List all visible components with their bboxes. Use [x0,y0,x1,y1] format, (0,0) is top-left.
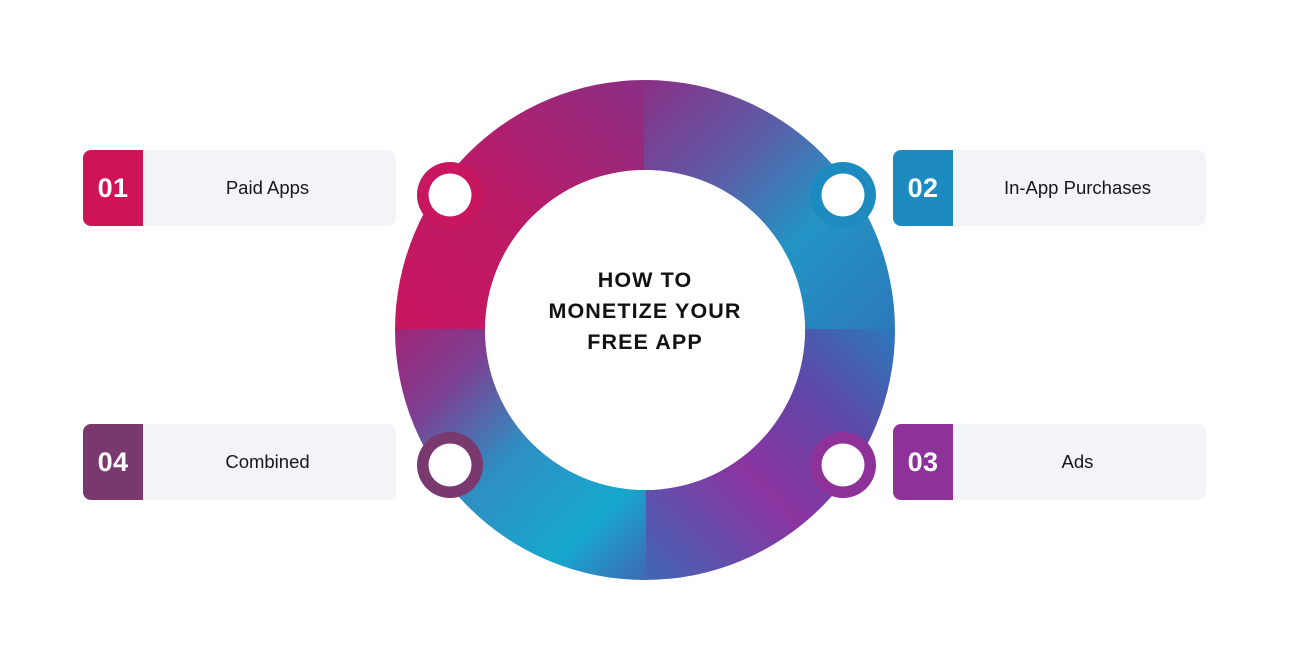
node-bottom-right [810,432,876,498]
cycle-diagram: HOW TO MONETIZE YOUR FREE APP [395,80,895,580]
step-number-badge-02: 02 [893,150,953,226]
step-card-02[interactable]: 02 In-App Purchases [893,150,1206,226]
center-title-line-1: HOW TO [515,265,775,296]
infographic-canvas: HOW TO MONETIZE YOUR FREE APP 01 Paid Ap… [0,0,1289,651]
node-bottom-left [417,432,483,498]
step-label-01: Paid Apps [143,150,396,226]
node-top-left [417,162,483,228]
step-card-03[interactable]: 03 Ads [893,424,1206,500]
step-number-badge-01: 01 [83,150,143,226]
step-number-badge-04: 04 [83,424,143,500]
center-title-line-2: MONETIZE YOUR [515,296,775,327]
center-title: HOW TO MONETIZE YOUR FREE APP [515,265,775,358]
step-card-01[interactable]: 01 Paid Apps [83,150,396,226]
node-top-right [810,162,876,228]
center-title-line-3: FREE APP [515,327,775,358]
step-label-03: Ads [953,424,1206,500]
step-label-02: In-App Purchases [953,150,1206,226]
step-label-04: Combined [143,424,396,500]
step-card-04[interactable]: 04 Combined [83,424,396,500]
step-number-badge-03: 03 [893,424,953,500]
